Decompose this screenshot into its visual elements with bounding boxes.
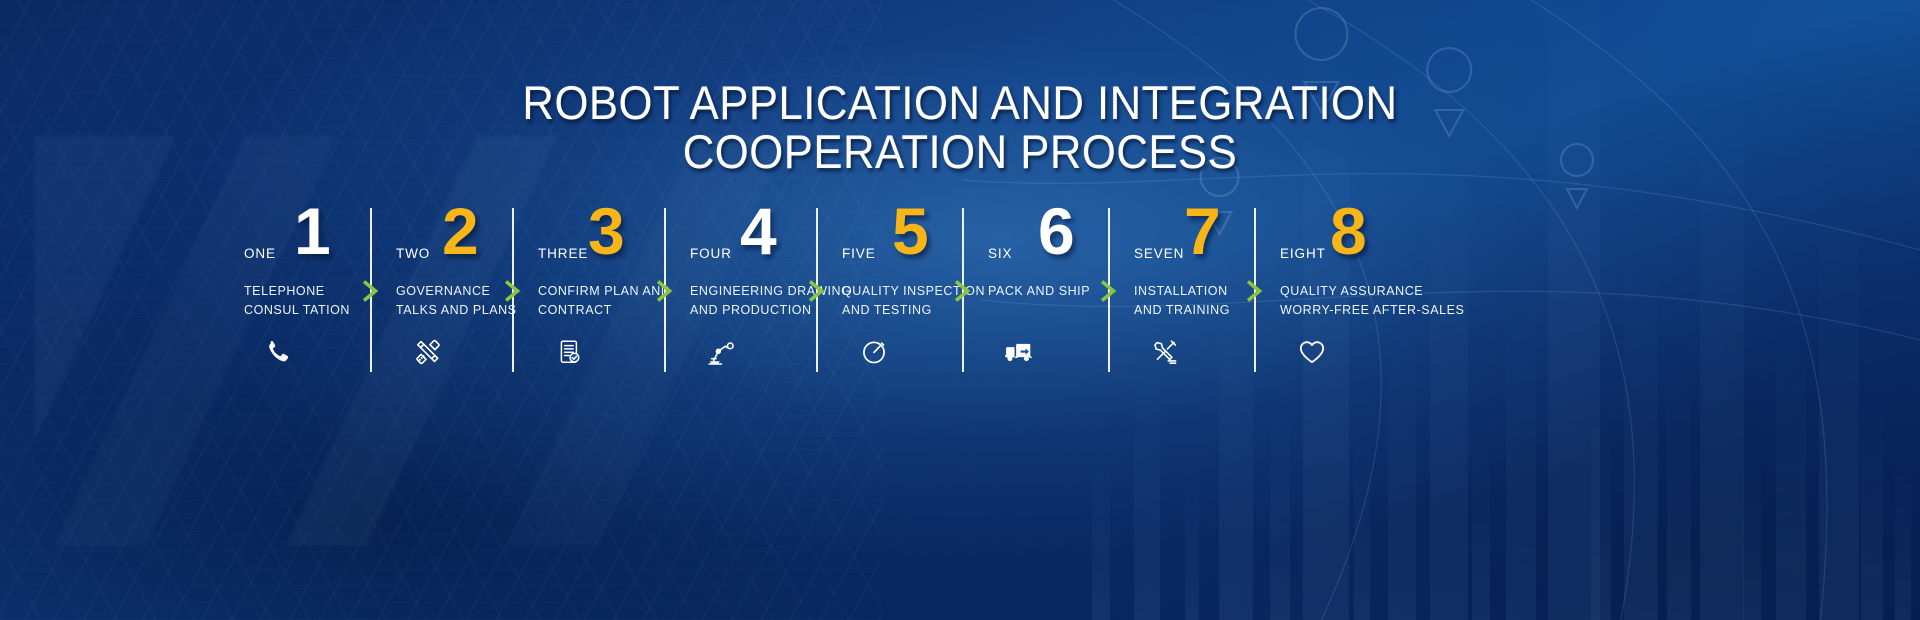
step-description: QUALITY ASSURANCEWORRY-FREE AFTER-SALES — [1280, 282, 1440, 320]
step-divider-5 — [950, 200, 976, 380]
telephone-icon — [244, 332, 308, 372]
chevron-right-icon — [654, 278, 676, 304]
step-word-label: SEVEN — [1134, 246, 1184, 261]
step-word-label: ONE — [244, 246, 276, 261]
process-step-1[interactable]: ONE1TELEPHONECONSUL TATION — [232, 200, 358, 380]
page-title: ROBOT APPLICATION AND INTEGRATION COOPER… — [0, 78, 1920, 176]
process-banner: ROBOT APPLICATION AND INTEGRATION COOPER… — [0, 0, 1920, 620]
chevron-right-icon — [806, 278, 828, 304]
step-number: 1 — [294, 200, 330, 262]
step-divider-1 — [358, 200, 384, 380]
step-divider-7 — [1242, 200, 1268, 380]
step-description: GOVERNANCETALKS AND PLANS — [396, 282, 512, 320]
step-divider-4 — [804, 200, 830, 380]
step-description-line: TALKS AND PLANS — [396, 301, 512, 320]
gauge-icon — [842, 332, 906, 372]
step-description-line: AND TRAINING — [1134, 301, 1254, 320]
document-check-icon — [538, 332, 602, 372]
step-number: 2 — [442, 200, 478, 262]
step-number: 8 — [1330, 200, 1366, 262]
process-step-6[interactable]: SIX6PACK AND SHIP — [976, 200, 1096, 380]
step-description-line: CONTRACT — [538, 301, 664, 320]
process-step-7[interactable]: SEVEN7INSTALLATIONAND TRAINING — [1122, 200, 1242, 380]
step-number: 3 — [588, 200, 624, 262]
step-description-line: AND TESTING — [842, 301, 962, 320]
step-number: 5 — [892, 200, 928, 262]
step-word-label: EIGHT — [1280, 246, 1326, 261]
delivery-truck-icon — [988, 332, 1052, 372]
step-description-line: CONSUL TATION — [244, 301, 370, 320]
step-number: 4 — [740, 200, 776, 262]
step-description: PACK AND SHIP — [988, 282, 1108, 301]
step-description: QUALITY INSPECTIONAND TESTING — [842, 282, 962, 320]
title-line-1: ROBOT APPLICATION AND INTEGRATION — [67, 78, 1853, 127]
step-word-label: FIVE — [842, 246, 876, 261]
step-word-label: FOUR — [690, 246, 732, 261]
step-description-line: GOVERNANCE — [396, 282, 512, 301]
step-description-line: CONFIRM PLAN AND — [538, 282, 664, 301]
chevron-right-icon — [1244, 278, 1266, 304]
step-word-label: SIX — [988, 246, 1012, 261]
step-word-label: THREE — [538, 246, 588, 261]
process-step-5[interactable]: FIVE5QUALITY INSPECTIONAND TESTING — [830, 200, 950, 380]
step-description-line: WORRY-FREE AFTER-SALES — [1280, 301, 1440, 320]
step-description-line: TELEPHONE — [244, 282, 370, 301]
step-number: 7 — [1184, 200, 1220, 262]
ruler-pencil-icon — [396, 332, 460, 372]
step-description-line: INSTALLATION — [1134, 282, 1254, 301]
step-description-line: PACK AND SHIP — [988, 282, 1108, 301]
chevron-right-icon — [502, 278, 524, 304]
step-number: 6 — [1038, 200, 1074, 262]
process-step-3[interactable]: THREE3CONFIRM PLAN ANDCONTRACT — [526, 200, 652, 380]
step-description: CONFIRM PLAN ANDCONTRACT — [538, 282, 664, 320]
step-description: ENGINEERING DRAWINGAND PRODUCTION — [690, 282, 816, 320]
step-description: INSTALLATIONAND TRAINING — [1134, 282, 1254, 320]
process-step-2[interactable]: TWO2GOVERNANCETALKS AND PLANS — [384, 200, 500, 380]
step-description: TELEPHONECONSUL TATION — [244, 282, 370, 320]
heart-icon — [1280, 332, 1344, 372]
chevron-right-icon — [360, 278, 382, 304]
robot-arm-icon — [690, 332, 754, 372]
step-description-line: ENGINEERING DRAWING — [690, 282, 816, 301]
step-description-line: QUALITY ASSURANCE — [1280, 282, 1440, 301]
process-step-8[interactable]: EIGHT8QUALITY ASSURANCEWORRY-FREE AFTER-… — [1268, 200, 1428, 380]
wrench-screwdriver-icon — [1134, 332, 1198, 372]
chevron-right-icon — [952, 278, 974, 304]
step-description-line: QUALITY INSPECTION — [842, 282, 962, 301]
process-step-list: ONE1TELEPHONECONSUL TATIONTWO2GOVERNANCE… — [232, 200, 1692, 380]
step-word-label: TWO — [396, 246, 430, 261]
process-step-4[interactable]: FOUR4ENGINEERING DRAWINGAND PRODUCTION — [678, 200, 804, 380]
title-line-2: COOPERATION PROCESS — [67, 127, 1853, 176]
step-divider-3 — [652, 200, 678, 380]
step-divider-2 — [500, 200, 526, 380]
step-divider-6 — [1096, 200, 1122, 380]
chevron-right-icon — [1098, 278, 1120, 304]
step-description-line: AND PRODUCTION — [690, 301, 816, 320]
